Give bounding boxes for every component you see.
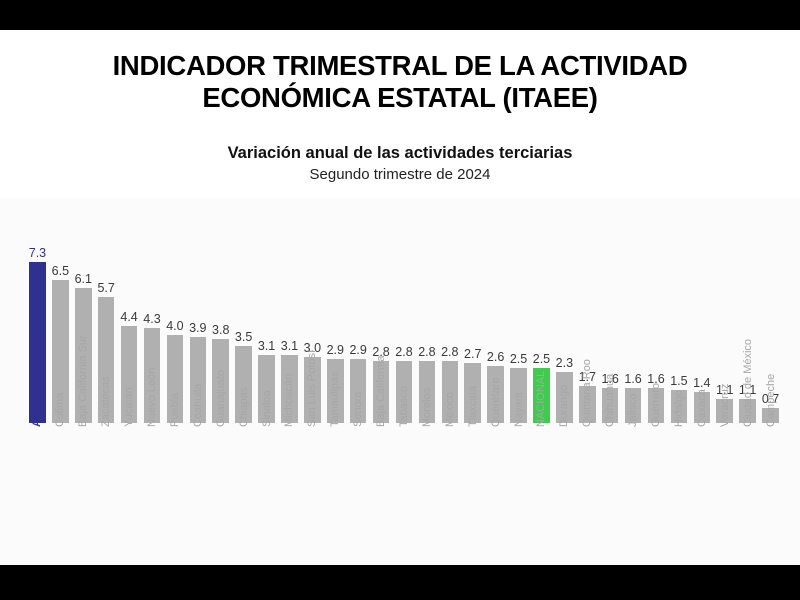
category-label-guerrero: Guerrero xyxy=(650,383,662,427)
category-label-san-luis-potosí: San Luis Potosí xyxy=(306,350,318,427)
bar-group[interactable]: 0.7Campeche xyxy=(762,198,778,565)
category-label-chihuahua: Chihuahua xyxy=(604,374,616,427)
category-label-nacional: NACIONAL xyxy=(535,371,547,427)
category-label-nayarit: Nayarit xyxy=(513,392,525,427)
category-label-sonora: Sonora xyxy=(352,392,364,427)
bar-value-label: 5.7 xyxy=(90,281,122,295)
bar-group[interactable]: 3.5Chiapas xyxy=(235,198,251,565)
category-label-coahuila: Coahuila xyxy=(192,384,204,427)
category-label-baja-california-sur: Baja California Sur xyxy=(77,335,89,427)
bar-group[interactable]: 4.0Puebla xyxy=(167,198,183,565)
category-label-aguascalientes: Aguascalientes xyxy=(31,346,43,427)
bar-group[interactable]: 7.3Aguascalientes xyxy=(29,198,45,565)
bar-group[interactable]: 2.8Tabasco xyxy=(396,198,412,565)
category-label-durango: Durango xyxy=(558,385,570,427)
bar-group[interactable]: 1.1Veracruz xyxy=(716,198,732,565)
title-line-1: INDICADOR TRIMESTRAL DE LA ACTIVIDAD xyxy=(0,50,800,82)
bar-group[interactable]: 2.7Tlaxcala xyxy=(464,198,480,565)
bar-group[interactable]: 3.9Coahuila xyxy=(190,198,206,565)
bar-group[interactable]: 3.8Guanajuato xyxy=(212,198,228,565)
category-label-campeche: Campeche xyxy=(765,374,777,427)
category-label-colima: Colima xyxy=(54,393,66,427)
category-label-tabasco: Tabasco xyxy=(398,386,410,427)
slide-stage: INDICADOR TRIMESTRAL DE LA ACTIVIDAD ECO… xyxy=(0,0,800,600)
bar-group[interactable]: 2.9Sonora xyxy=(350,198,366,565)
bar-group[interactable]: 6.5Colima xyxy=(52,198,68,565)
category-label-oaxaca: Oaxaca xyxy=(696,389,708,427)
subtitle-main: Variación anual de las actividades terci… xyxy=(0,142,800,164)
category-label-baja-california: Baja California xyxy=(375,355,387,427)
bar-group[interactable]: 2.5Nayarit xyxy=(510,198,526,565)
chart-subtitle: Variación anual de las actividades terci… xyxy=(0,142,800,186)
category-label-michoacán: Michoacán xyxy=(283,374,295,427)
bar-group[interactable]: 1.4Oaxaca xyxy=(694,198,710,565)
category-label-hidalgo: Hidalgo xyxy=(673,390,685,427)
bar-group[interactable]: 2.8Baja California xyxy=(373,198,389,565)
bar-group[interactable]: 2.5NACIONAL xyxy=(533,198,549,565)
category-label-tamaulipas: Tamaulipas xyxy=(329,371,341,427)
bar-group[interactable]: 2.6Querétaro xyxy=(487,198,503,565)
category-label-quintana-roo: Quintana Roo xyxy=(581,359,593,427)
slide-canvas: INDICADOR TRIMESTRAL DE LA ACTIVIDAD ECO… xyxy=(0,30,800,565)
category-label-guanajuato: Guanajuato xyxy=(215,370,227,427)
category-label-querétaro: Querétaro xyxy=(490,377,502,427)
title-line-2: ECONÓMICA ESTATAL (ITAEE) xyxy=(0,82,800,114)
bar-group[interactable]: 5.7Zacatecas xyxy=(98,198,114,565)
bar-group[interactable]: 1.1Ciudad de México xyxy=(739,198,755,565)
bar-value-label: 2.3 xyxy=(548,356,580,370)
category-label-méxico: México xyxy=(444,392,456,427)
category-label-zacatecas: Zacatecas xyxy=(100,376,112,427)
bar-group[interactable]: 6.1Baja California Sur xyxy=(75,198,91,565)
category-label-nuevo-león: Nuevo León xyxy=(146,368,158,427)
bar-group[interactable]: 4.3Nuevo León xyxy=(144,198,160,565)
bar-group[interactable]: 2.8México xyxy=(442,198,458,565)
bar-group[interactable]: 3.0San Luis Potosí xyxy=(304,198,320,565)
bar-group[interactable]: 3.1Sinaloa xyxy=(258,198,274,565)
bar-group[interactable]: 3.1Michoacán xyxy=(281,198,297,565)
category-label-jalisco: Jalisco xyxy=(627,393,639,427)
chart-panel: 7.3Aguascalientes6.5Colima6.1Baja Califo… xyxy=(0,198,800,565)
category-label-tlaxcala: Tlaxcala xyxy=(467,386,479,427)
bar-group[interactable]: 2.8Morelos xyxy=(419,198,435,565)
category-label-chiapas: Chiapas xyxy=(238,387,250,427)
category-label-yucatán: Yucatán xyxy=(123,387,135,427)
category-label-puebla: Puebla xyxy=(169,393,181,427)
subtitle-period: Segundo trimestre de 2024 xyxy=(0,164,800,186)
category-label-veracruz: Veracruz xyxy=(719,384,731,427)
category-label-ciudad-de-méxico: Ciudad de México xyxy=(742,339,754,427)
category-label-sinaloa: Sinaloa xyxy=(261,390,273,427)
category-label-morelos: Morelos xyxy=(421,388,433,427)
chart-title: INDICADOR TRIMESTRAL DE LA ACTIVIDAD ECO… xyxy=(0,50,800,114)
bar-value-label: 7.3 xyxy=(21,246,53,260)
bar-chart-plot-area: 7.3Aguascalientes6.5Colima6.1Baja Califo… xyxy=(26,198,782,565)
bar-group[interactable]: 4.4Yucatán xyxy=(121,198,137,565)
bar-group[interactable]: 2.9Tamaulipas xyxy=(327,198,343,565)
